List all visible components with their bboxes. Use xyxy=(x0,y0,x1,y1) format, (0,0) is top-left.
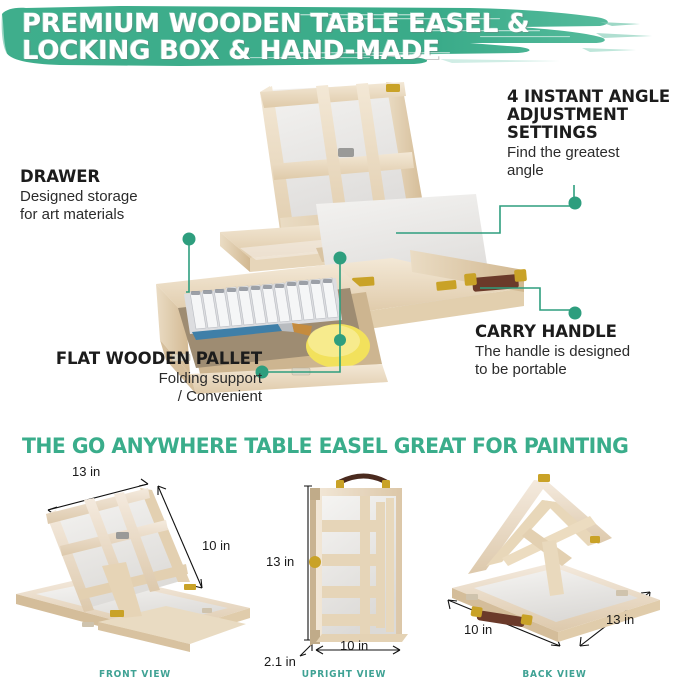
upright-dim-21in: 2.1 in xyxy=(264,654,296,669)
callout-angle-subtitle: Find the greatest angle xyxy=(507,144,679,180)
infographic-page: PREMIUM WOODEN TABLE EASEL & LOCKING BOX… xyxy=(0,0,679,686)
callout-pallet-subtitle: Folding support / Convenient xyxy=(12,370,262,406)
header-title: PREMIUM WOODEN TABLE EASEL & LOCKING BOX… xyxy=(22,11,662,65)
upright-view-caption: UPRIGHT VIEW xyxy=(272,669,416,680)
callout-angle: 4 INSTANT ANGLE ADJUSTMENT SETTINGS Find… xyxy=(507,88,679,180)
callout-handle-title: CARRY HANDLE xyxy=(475,323,679,341)
callout-drawer-subtitle: Designed storage for art materials xyxy=(20,188,210,224)
callout-pallet: FLAT WOODEN PALLET Folding support / Con… xyxy=(12,350,262,406)
callout-angle-title: 4 INSTANT ANGLE ADJUSTMENT SETTINGS xyxy=(507,88,679,142)
front-view-caption: FRONT VIEW xyxy=(19,669,251,680)
upright-dim-13in: 13 in xyxy=(266,554,294,569)
product-view-front: 13 in 10 in FRONT VIEW xyxy=(6,462,264,686)
back-dim-13in: 13 in xyxy=(606,612,634,627)
product-view-back: 10 in 13 in BACK VIEW xyxy=(430,462,679,686)
upright-carry-handle xyxy=(336,476,390,489)
front-dim-10in: 10 in xyxy=(202,538,230,553)
callout-drawer-title: DRAWER xyxy=(20,168,210,186)
product-view-upright: 13 in 2.1 in 10 in UPRIGHT VIEW xyxy=(264,462,424,686)
back-view-caption: BACK VIEW xyxy=(442,669,666,680)
upright-dim-10in: 10 in xyxy=(340,638,368,653)
callout-pallet-title: FLAT WOODEN PALLET xyxy=(12,350,262,368)
callout-handle-subtitle: The handle is designed to be portable xyxy=(475,343,679,379)
callout-handle: CARRY HANDLE The handle is designed to b… xyxy=(475,323,679,379)
header-banner: PREMIUM WOODEN TABLE EASEL & LOCKING BOX… xyxy=(0,0,679,78)
section-heading: THE GO ANYWHERE TABLE EASEL GREAT FOR PA… xyxy=(22,434,643,458)
front-view-image xyxy=(6,462,264,662)
back-dim-10in: 10 in xyxy=(464,622,492,637)
front-dim-13in: 13 in xyxy=(72,464,100,479)
connector-dot-handle xyxy=(569,307,582,320)
callout-drawer: DRAWER Designed storage for art material… xyxy=(20,168,210,224)
connector-dot-angle xyxy=(569,197,582,210)
